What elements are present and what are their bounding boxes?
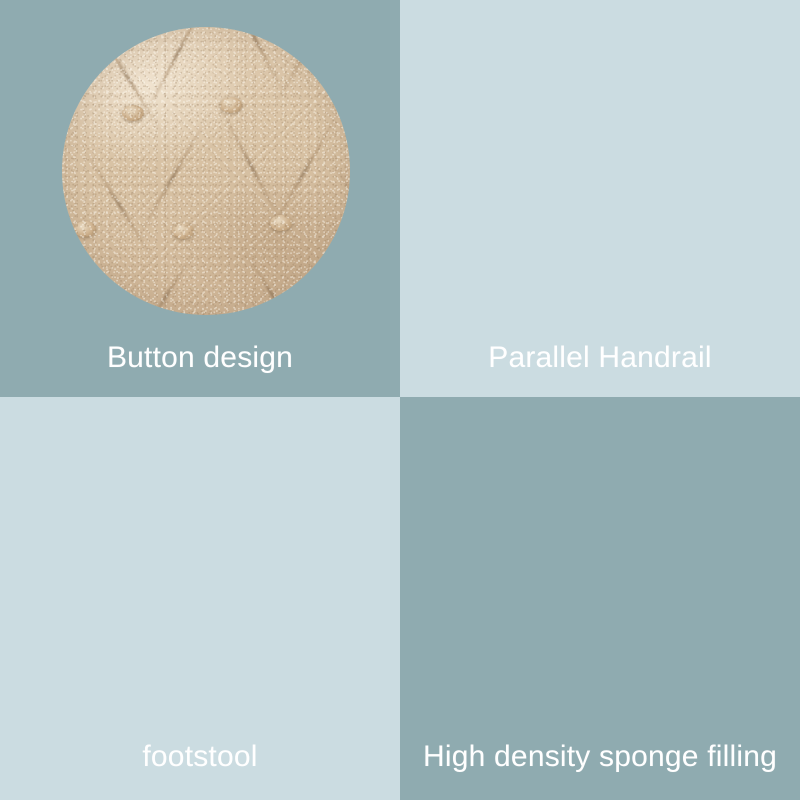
feature-panel-parallel-handrail[interactable]: Parallel Handrail — [400, 0, 800, 397]
caption-button-design: Button design — [0, 343, 400, 373]
feature-panel-high-density-sponge-filling[interactable]: High density sponge filling — [400, 397, 800, 800]
fabric-tufting-photo — [62, 27, 350, 315]
caption-high-density-sponge-filling: High density sponge filling — [400, 742, 800, 772]
feature-panel-button-design[interactable]: Button design — [0, 0, 400, 397]
caption-footstool: footstool — [0, 742, 400, 772]
fabric-grain-texture — [62, 27, 350, 315]
caption-parallel-handrail: Parallel Handrail — [400, 343, 800, 373]
feature-panel-footstool[interactable]: footstool — [0, 397, 400, 800]
feature-grid: Button design — [0, 0, 800, 800]
